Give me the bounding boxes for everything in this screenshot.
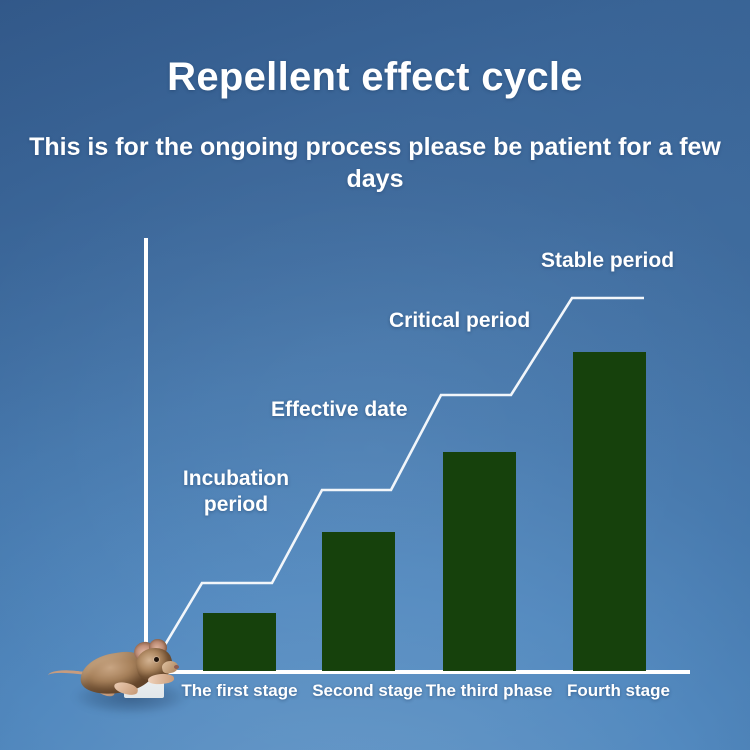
bar-fourth-stage	[573, 352, 646, 671]
annotation-incubation-period: Incubation period	[171, 466, 301, 518]
x-label-fourth-stage: Fourth stage	[547, 681, 690, 701]
mouse-nose	[174, 665, 179, 669]
bar-second-stage	[322, 532, 395, 671]
bar-chart: Incubation period Effective date Critica…	[0, 0, 750, 750]
x-label-the-third-phase: The third phase	[414, 681, 564, 701]
annotation-effective-date: Effective date	[271, 397, 408, 423]
annotation-stable-period: Stable period	[541, 248, 674, 274]
mouse-icon	[62, 634, 194, 712]
mouse-eye	[154, 657, 159, 662]
bar-the-third-phase	[443, 452, 516, 671]
bar-the-first-stage	[203, 613, 276, 671]
annotation-critical-period: Critical period	[389, 308, 530, 334]
